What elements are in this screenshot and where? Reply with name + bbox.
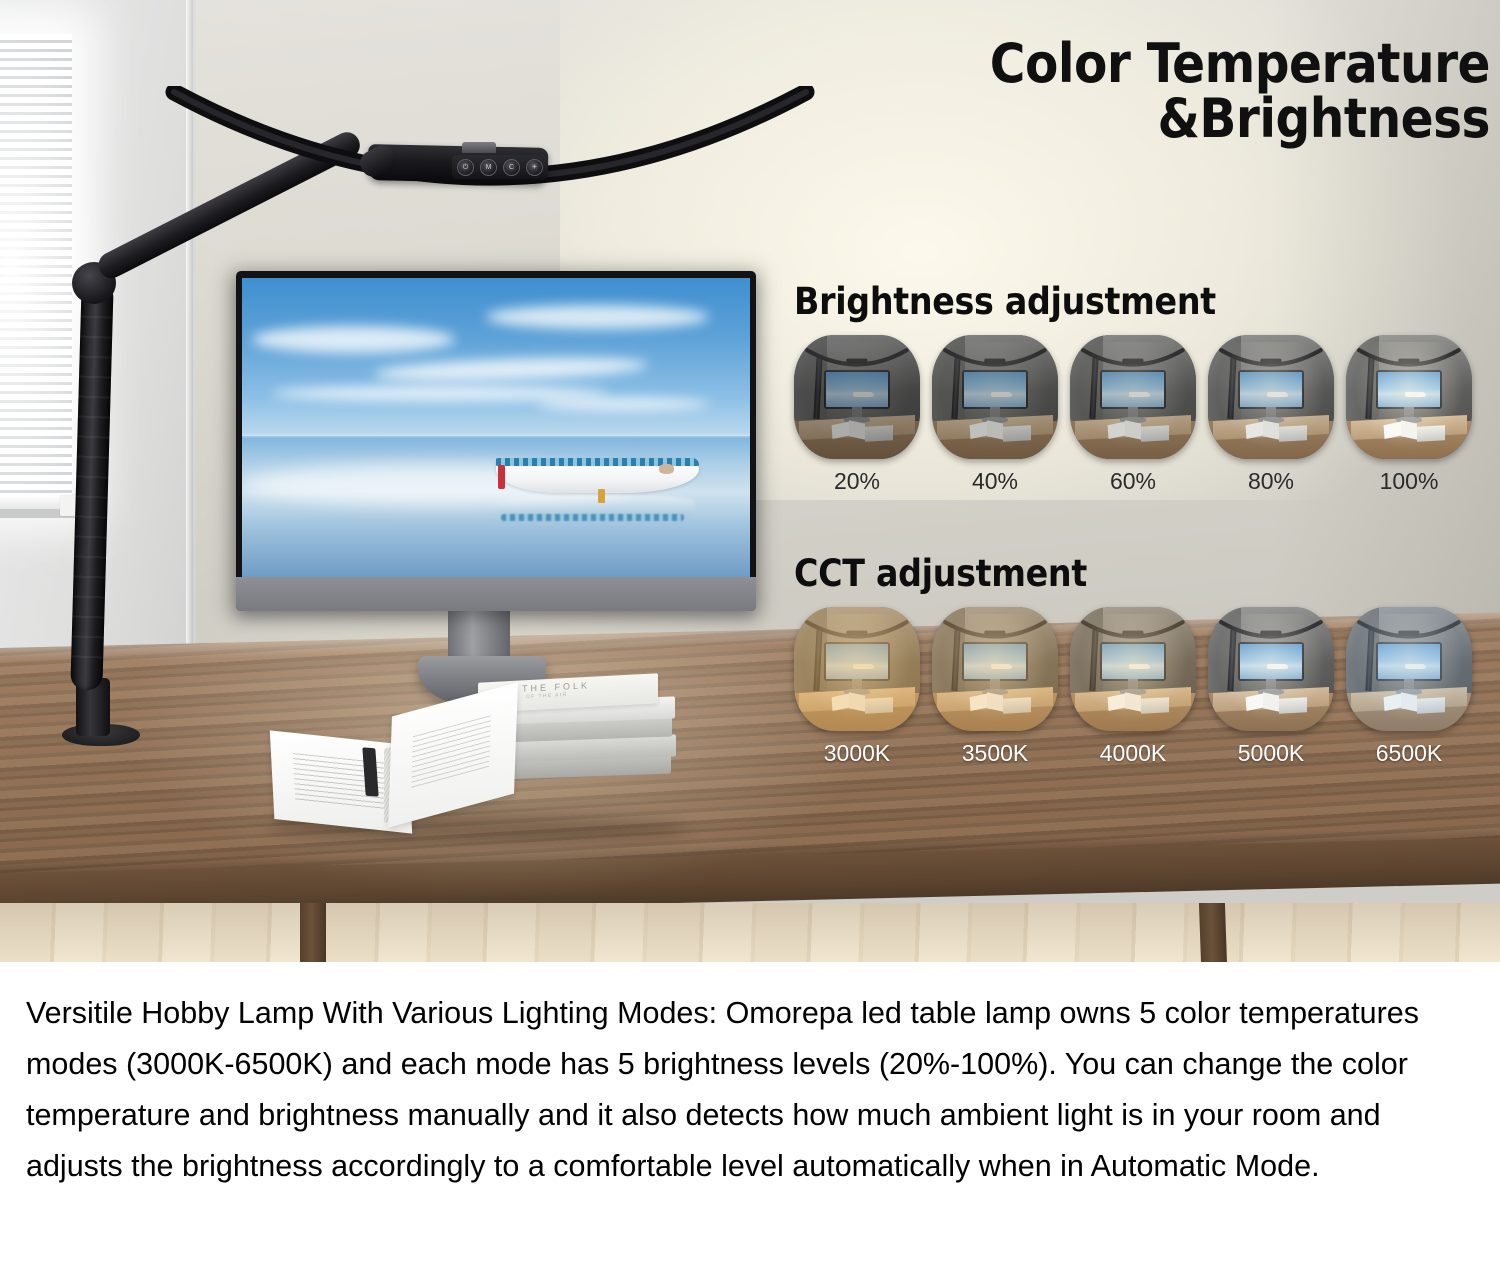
cct-icon[interactable]: C <box>503 159 520 176</box>
title-line-1: Color Temperature <box>990 32 1490 95</box>
cct-tile-5[interactable]: 6500K <box>1344 607 1474 767</box>
desk-leg <box>1199 903 1227 962</box>
monitor-neck <box>448 608 510 660</box>
brightness-tile-3[interactable]: 60% <box>1068 335 1198 495</box>
mode-glyph: M <box>486 164 492 171</box>
brightness-label: 60% <box>1110 468 1156 495</box>
brightness-tile-2[interactable]: 40% <box>930 335 1060 495</box>
cct-thumbnail[interactable] <box>1070 607 1196 731</box>
power-icon[interactable]: ⏻ <box>457 159 474 176</box>
brightness-thumbnail[interactable] <box>1208 335 1334 459</box>
brightness-tile-4[interactable]: 80% <box>1206 335 1336 495</box>
cloud <box>537 398 710 410</box>
boat-bow-detail <box>659 464 674 474</box>
brightness-tile-1[interactable]: 20% <box>792 335 922 495</box>
lamp-head-notch <box>462 142 496 153</box>
thumb-gloss <box>1208 335 1334 392</box>
floor-shading <box>0 903 1500 962</box>
wallpaper-sky <box>242 278 750 436</box>
cct-thumbnail[interactable] <box>932 607 1058 731</box>
brightness-thumbnail[interactable] <box>794 335 920 459</box>
power-glyph: ⏻ <box>463 164 469 171</box>
brightness-label: 20% <box>834 468 880 495</box>
cct-tile-4[interactable]: 5000K <box>1206 607 1336 767</box>
monitor <box>236 271 756 611</box>
brightness-label: 100% <box>1380 468 1439 495</box>
cct-label: 3000K <box>824 740 891 767</box>
brightness-thumbnail[interactable] <box>1346 335 1472 459</box>
brightness-heading: Brightness adjustment <box>794 280 1490 323</box>
thumb-gloss <box>1346 607 1472 664</box>
brightness-label: 40% <box>972 468 1018 495</box>
boat-oarlock <box>598 489 605 503</box>
cct-label: 4000K <box>1100 740 1167 767</box>
description-block: Versitile Hobby Lamp With Various Lighti… <box>0 962 1500 1287</box>
brightness-tile-row: 20%40%60%80%100% <box>782 335 1490 495</box>
brightness-glyph: ☀ <box>531 164 537 171</box>
desk-leg <box>300 903 326 962</box>
product-feature-image: THE FOLK OF THE AIR ⏻ M C <box>0 0 1500 1287</box>
brightness-thumbnail[interactable] <box>1070 335 1196 459</box>
monitor-screen-wallpaper <box>242 278 750 577</box>
cct-tile-3[interactable]: 4000K <box>1068 607 1198 767</box>
open-book <box>272 704 512 832</box>
cct-tile-2[interactable]: 3500K <box>930 607 1060 767</box>
horizon-line <box>242 435 750 437</box>
brightness-tile-5[interactable]: 100% <box>1344 335 1474 495</box>
cct-glyph: C <box>509 164 514 171</box>
title-line-2: &Brightness <box>790 91 1490 146</box>
cct-tile-1[interactable]: 3000K <box>792 607 922 767</box>
description-text: Versitile Hobby Lamp With Various Lighti… <box>26 988 1474 1192</box>
page-title: Color Temperature &Brightness <box>790 36 1490 146</box>
thumb-gloss <box>1070 335 1196 392</box>
cct-label: 6500K <box>1376 740 1443 767</box>
cct-thumbnail[interactable] <box>794 607 920 731</box>
cloud <box>252 326 455 353</box>
brightness-label: 80% <box>1248 468 1294 495</box>
thumb-gloss <box>794 335 920 392</box>
thumb-gloss <box>1208 607 1334 664</box>
brightness-thumbnail[interactable] <box>932 335 1058 459</box>
lamp-control-panel[interactable]: ⏻ M C ☀ <box>452 155 548 179</box>
cct-label: 3500K <box>962 740 1029 767</box>
cct-label: 5000K <box>1238 740 1305 767</box>
thumb-gloss <box>932 607 1058 664</box>
brightness-section: Brightness adjustment 20%40%60%80%100% <box>782 280 1490 495</box>
feature-callouts: Color Temperature &Brightness Brightness… <box>782 22 1490 812</box>
cloud <box>272 386 607 401</box>
cct-heading: CCT adjustment <box>794 552 1490 595</box>
brightness-icon[interactable]: ☀ <box>526 159 543 176</box>
cct-thumbnail[interactable] <box>1208 607 1334 731</box>
mode-icon[interactable]: M <box>480 159 497 176</box>
thumb-gloss <box>794 607 920 664</box>
boat-red-marker <box>498 465 506 489</box>
cct-thumbnail[interactable] <box>1346 607 1472 731</box>
thumb-gloss <box>1346 335 1472 392</box>
boat-reflection-trim <box>501 514 684 521</box>
cct-tile-row: 3000K3500K4000K5000K6500K <box>782 607 1490 767</box>
cloud <box>486 305 710 329</box>
thumb-gloss <box>1070 607 1196 664</box>
thumb-gloss <box>932 335 1058 392</box>
cct-section: CCT adjustment 3000K3500K4000K5000K6500K <box>782 552 1490 767</box>
monitor-bottom-bezel <box>236 577 756 611</box>
